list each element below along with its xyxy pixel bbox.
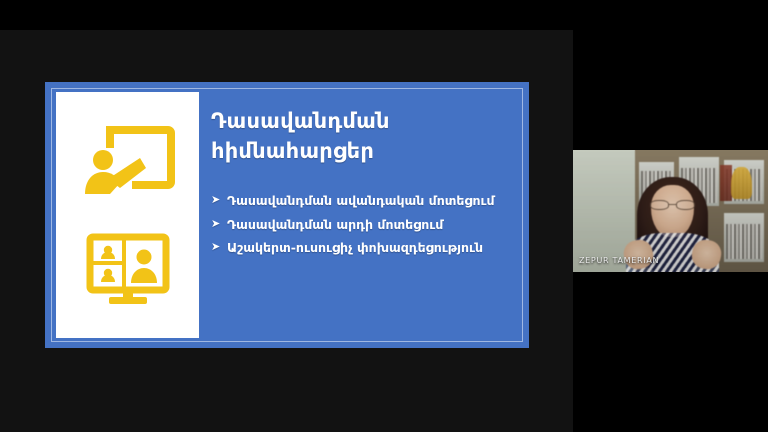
slide-title: Դասավանդման հիմնահարցեր bbox=[211, 106, 515, 167]
slide-bullet-item: ➤ Դասավանդման ավանդական մոտեցում bbox=[211, 193, 515, 209]
presentation-slide[interactable]: Դասավանդման հիմնահարցեր ➤ Դասավանդման ավ… bbox=[45, 82, 529, 348]
participant-video-tile[interactable]: ZEPUR TAMERIAN bbox=[573, 150, 768, 272]
screen-share-stage: Դասավանդման հիմնահարցեր ➤ Դասավանդման ավ… bbox=[0, 0, 768, 432]
slide-bullet-text: Աշակերտ-ուսուցիչ փոխազդեցություն bbox=[227, 240, 483, 255]
participant-name-label: ZEPUR TAMERIAN bbox=[579, 256, 659, 265]
slide-bullet-item: ➤ Աշակերտ-ուսուցիչ փոխազդեցություն bbox=[211, 240, 515, 256]
slide-text-column: Դասավանդման հիմնահարցեր ➤ Դասավանդման ավ… bbox=[211, 106, 515, 334]
slide-title-line-1: Դասավանդման bbox=[211, 106, 515, 136]
slide-bullet-list: ➤ Դասավանդման ավանդական մոտեցում ➤ Դասավ… bbox=[211, 193, 515, 256]
bullet-arrow-icon: ➤ bbox=[211, 193, 220, 208]
bullet-arrow-icon: ➤ bbox=[211, 217, 220, 232]
video-overlay bbox=[573, 150, 768, 272]
video-feed bbox=[573, 150, 768, 272]
video-conference-monitor-icon bbox=[85, 232, 171, 308]
bullet-arrow-icon: ➤ bbox=[211, 240, 220, 255]
slide-bullet-item: ➤ Դասավանդման արդի մոտեցում bbox=[211, 217, 515, 233]
slide-bullet-text: Դասավանդման արդի մոտեցում bbox=[227, 217, 443, 232]
slide-bullet-text: Դասավանդման ավանդական մոտեցում bbox=[227, 193, 495, 208]
teacher-at-whiteboard-icon bbox=[80, 122, 176, 200]
slide-title-line-2: հիմնահարցեր bbox=[211, 136, 515, 166]
slide-icon-panel bbox=[56, 92, 199, 338]
